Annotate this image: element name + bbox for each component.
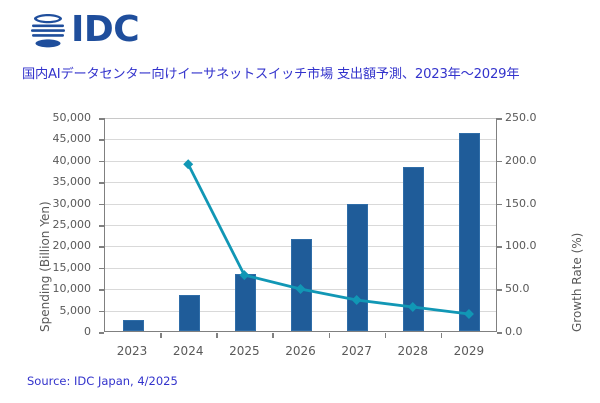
left-axis-tick-mark (99, 161, 104, 163)
left-axis-tick-mark (99, 246, 104, 248)
source-note: Source: IDC Japan, 4/2025 (27, 374, 178, 388)
left-axis-tick-label: 20,000 (53, 239, 92, 252)
left-axis-tick-label: 5,000 (60, 304, 92, 317)
x-axis-tick-label-2027: 2027 (329, 344, 385, 358)
bar-2028 (403, 167, 424, 331)
right-axis-tick-mark (497, 118, 502, 120)
right-axis-tick-label: 100.0 (505, 239, 537, 252)
x-axis-tick-mark (272, 333, 274, 338)
chart-figure: Spending (Billion Yen) Growth Rate (%) 0… (0, 0, 600, 403)
right-axis-title: Growth Rate (%) (570, 233, 584, 332)
bar-2026 (291, 239, 312, 331)
left-axis-title: Spending (Billion Yen) (38, 201, 52, 332)
right-axis-tick-label: 50.0 (505, 282, 530, 295)
x-axis-tick-mark (160, 333, 162, 338)
x-axis-tick-label-2029: 2029 (441, 344, 497, 358)
right-axis-tick-label: 0.0 (505, 325, 523, 338)
left-axis-tick-mark (99, 225, 104, 227)
left-axis-tick-label: 40,000 (53, 154, 92, 167)
right-axis-tick-label: 250.0 (505, 111, 537, 124)
gridline (105, 182, 496, 183)
x-axis-tick-label-2028: 2028 (385, 344, 441, 358)
right-axis-tick-mark (497, 332, 502, 334)
left-axis-tick-mark (99, 311, 104, 313)
bar-2029 (459, 133, 480, 331)
left-axis-tick-mark (99, 182, 104, 184)
gridline (105, 139, 496, 140)
x-axis-tick-mark (216, 333, 218, 338)
left-axis-tick-mark (99, 268, 104, 270)
right-axis-tick-mark (497, 161, 502, 163)
bar-2025 (235, 274, 256, 331)
bar-2024 (179, 295, 200, 331)
left-axis-tick-label: 0 (84, 325, 91, 338)
left-axis-tick-label: 45,000 (53, 132, 92, 145)
x-axis-tick-label-2023: 2023 (104, 344, 160, 358)
right-axis-tick-label: 150.0 (505, 197, 537, 210)
x-axis-tick-label-2024: 2024 (160, 344, 216, 358)
bar-2023 (123, 320, 144, 331)
left-axis-tick-label: 50,000 (53, 111, 92, 124)
left-axis-tick-label: 10,000 (53, 282, 92, 295)
bar-2027 (347, 204, 368, 331)
x-axis-tick-mark (385, 333, 387, 338)
left-axis-tick-mark (99, 332, 104, 334)
left-axis-tick-mark (99, 204, 104, 206)
left-axis-tick-mark (99, 139, 104, 141)
right-axis-tick-mark (497, 289, 502, 291)
right-axis-tick-mark (497, 204, 502, 206)
gridline (105, 118, 496, 119)
left-axis-tick-mark (99, 289, 104, 291)
x-axis-tick-mark (329, 333, 331, 338)
gridline (105, 204, 496, 205)
left-axis-tick-mark (99, 118, 104, 120)
left-axis-tick-label: 30,000 (53, 197, 92, 210)
left-axis-tick-label: 35,000 (53, 175, 92, 188)
left-axis-tick-label: 25,000 (53, 218, 92, 231)
x-axis-tick-mark (441, 333, 443, 338)
x-axis-tick-label-2025: 2025 (216, 344, 272, 358)
right-axis-tick-mark (497, 246, 502, 248)
gridline (105, 161, 496, 162)
plot-area (104, 118, 497, 332)
x-axis-tick-label-2026: 2026 (273, 344, 329, 358)
left-axis-tick-label: 15,000 (53, 261, 92, 274)
gridline (105, 225, 496, 226)
right-axis-tick-label: 200.0 (505, 154, 537, 167)
